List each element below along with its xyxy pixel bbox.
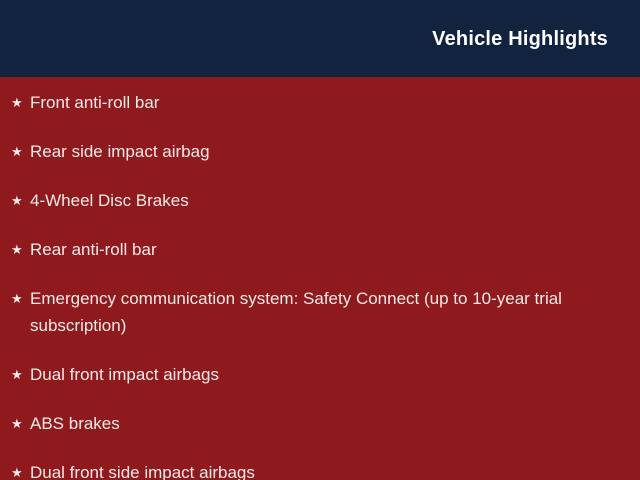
list-item-label: Rear anti-roll bar: [30, 236, 596, 263]
star-icon: ★: [10, 410, 30, 437]
star-icon: ★: [10, 285, 30, 312]
list-item: ★ Front anti-roll bar: [10, 89, 620, 116]
list-item: ★ 4-Wheel Disc Brakes: [10, 187, 620, 214]
star-icon: ★: [10, 89, 30, 116]
slide-header: Vehicle Highlights: [0, 0, 640, 77]
star-icon: ★: [10, 459, 30, 480]
highlights-body: ★ Front anti-roll bar ★ Rear side impact…: [0, 77, 640, 480]
list-item: ★ Rear side impact airbag: [10, 138, 620, 165]
list-item: ★ ABS brakes: [10, 410, 620, 437]
list-item: ★ Dual front side impact airbags: [10, 459, 620, 480]
list-item-label: Dual front impact airbags: [30, 361, 596, 388]
vehicle-highlights-slide: Vehicle Highlights ★ Front anti-roll bar…: [0, 0, 640, 480]
list-item-label: 4-Wheel Disc Brakes: [30, 187, 596, 214]
list-item-label: Dual front side impact airbags: [30, 459, 596, 480]
highlights-list: ★ Front anti-roll bar ★ Rear side impact…: [10, 89, 620, 480]
star-icon: ★: [10, 236, 30, 263]
star-icon: ★: [10, 187, 30, 214]
star-icon: ★: [10, 361, 30, 388]
page-title: Vehicle Highlights: [432, 27, 608, 51]
list-item-label: Rear side impact airbag: [30, 138, 596, 165]
list-item-label: ABS brakes: [30, 410, 596, 437]
list-item-label: Emergency communication system: Safety C…: [30, 285, 596, 339]
list-item: ★ Rear anti-roll bar: [10, 236, 620, 263]
list-item-label: Front anti-roll bar: [30, 89, 596, 116]
list-item: ★ Emergency communication system: Safety…: [10, 285, 620, 339]
list-item: ★ Dual front impact airbags: [10, 361, 620, 388]
star-icon: ★: [10, 138, 30, 165]
